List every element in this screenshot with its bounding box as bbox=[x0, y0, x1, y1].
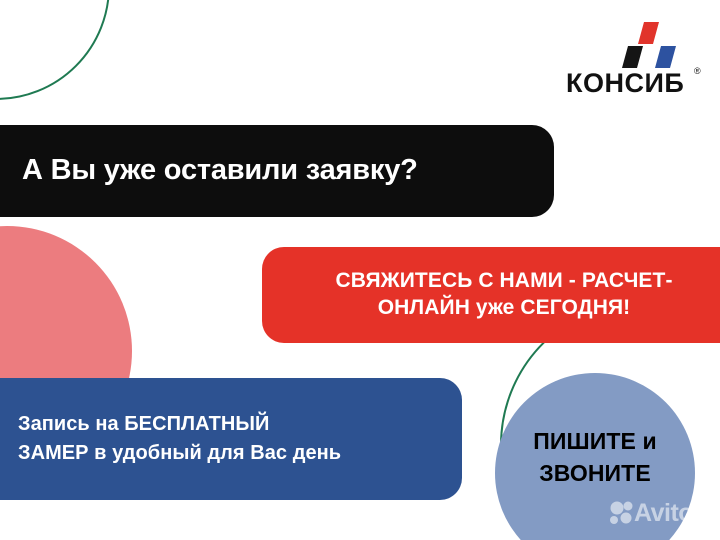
green-ring-decoration-top-left bbox=[0, 0, 110, 100]
brand-wordmark: КОНСИБ bbox=[566, 70, 694, 97]
call-us-text: ПИШИТЕ и ЗВОНИТЕ bbox=[533, 426, 656, 489]
measure-line-2: ЗАМЕР в удобный для Вас день bbox=[18, 442, 341, 464]
question-text: А Вы уже оставили заявку? bbox=[22, 155, 418, 187]
avito-wordmark: Avito bbox=[634, 501, 693, 526]
contact-text: СВЯЖИТЕСЬ С НАМИ - РАСЧЕТ- ОНЛАЙН уже СЕ… bbox=[335, 268, 672, 322]
promo-banner: КОНСИБ ® А Вы уже оставили заявку? СВЯЖИ… bbox=[0, 0, 720, 540]
contact-line-2-already: уже bbox=[470, 296, 520, 319]
contact-callout: СВЯЖИТЕСЬ С НАМИ - РАСЧЕТ- ОНЛАЙН уже СЕ… bbox=[262, 247, 720, 343]
contact-line-1: СВЯЖИТЕСЬ С НАМИ - РАСЧЕТ- bbox=[335, 269, 672, 292]
call-us-line-1: ПИШИТЕ и bbox=[533, 428, 656, 454]
registered-trademark-symbol: ® bbox=[694, 67, 701, 76]
brand-logo: КОНСИБ ® bbox=[566, 22, 702, 100]
write-and-call-callout: ПИШИТЕ и ЗВОНИТЕ bbox=[495, 400, 695, 515]
contact-line-2-today: СЕГОДНЯ! bbox=[520, 296, 630, 319]
question-callout: А Вы уже оставили заявку? bbox=[0, 125, 554, 217]
konsib-logo-mark-icon bbox=[616, 22, 682, 68]
call-us-line-2: ЗВОНИТЕ bbox=[539, 460, 651, 486]
contact-line-2-online: ОНЛАЙН bbox=[378, 296, 470, 319]
free-measurement-callout: Запись на БЕСПЛАТНЫЙ ЗАМЕР в удобный для… bbox=[0, 378, 462, 500]
avito-watermark: Avito bbox=[608, 500, 712, 532]
measure-line-1: Запись на БЕСПЛАТНЫЙ bbox=[18, 413, 269, 435]
measure-text: Запись на БЕСПЛАТНЫЙ ЗАМЕР в удобный для… bbox=[18, 410, 341, 468]
